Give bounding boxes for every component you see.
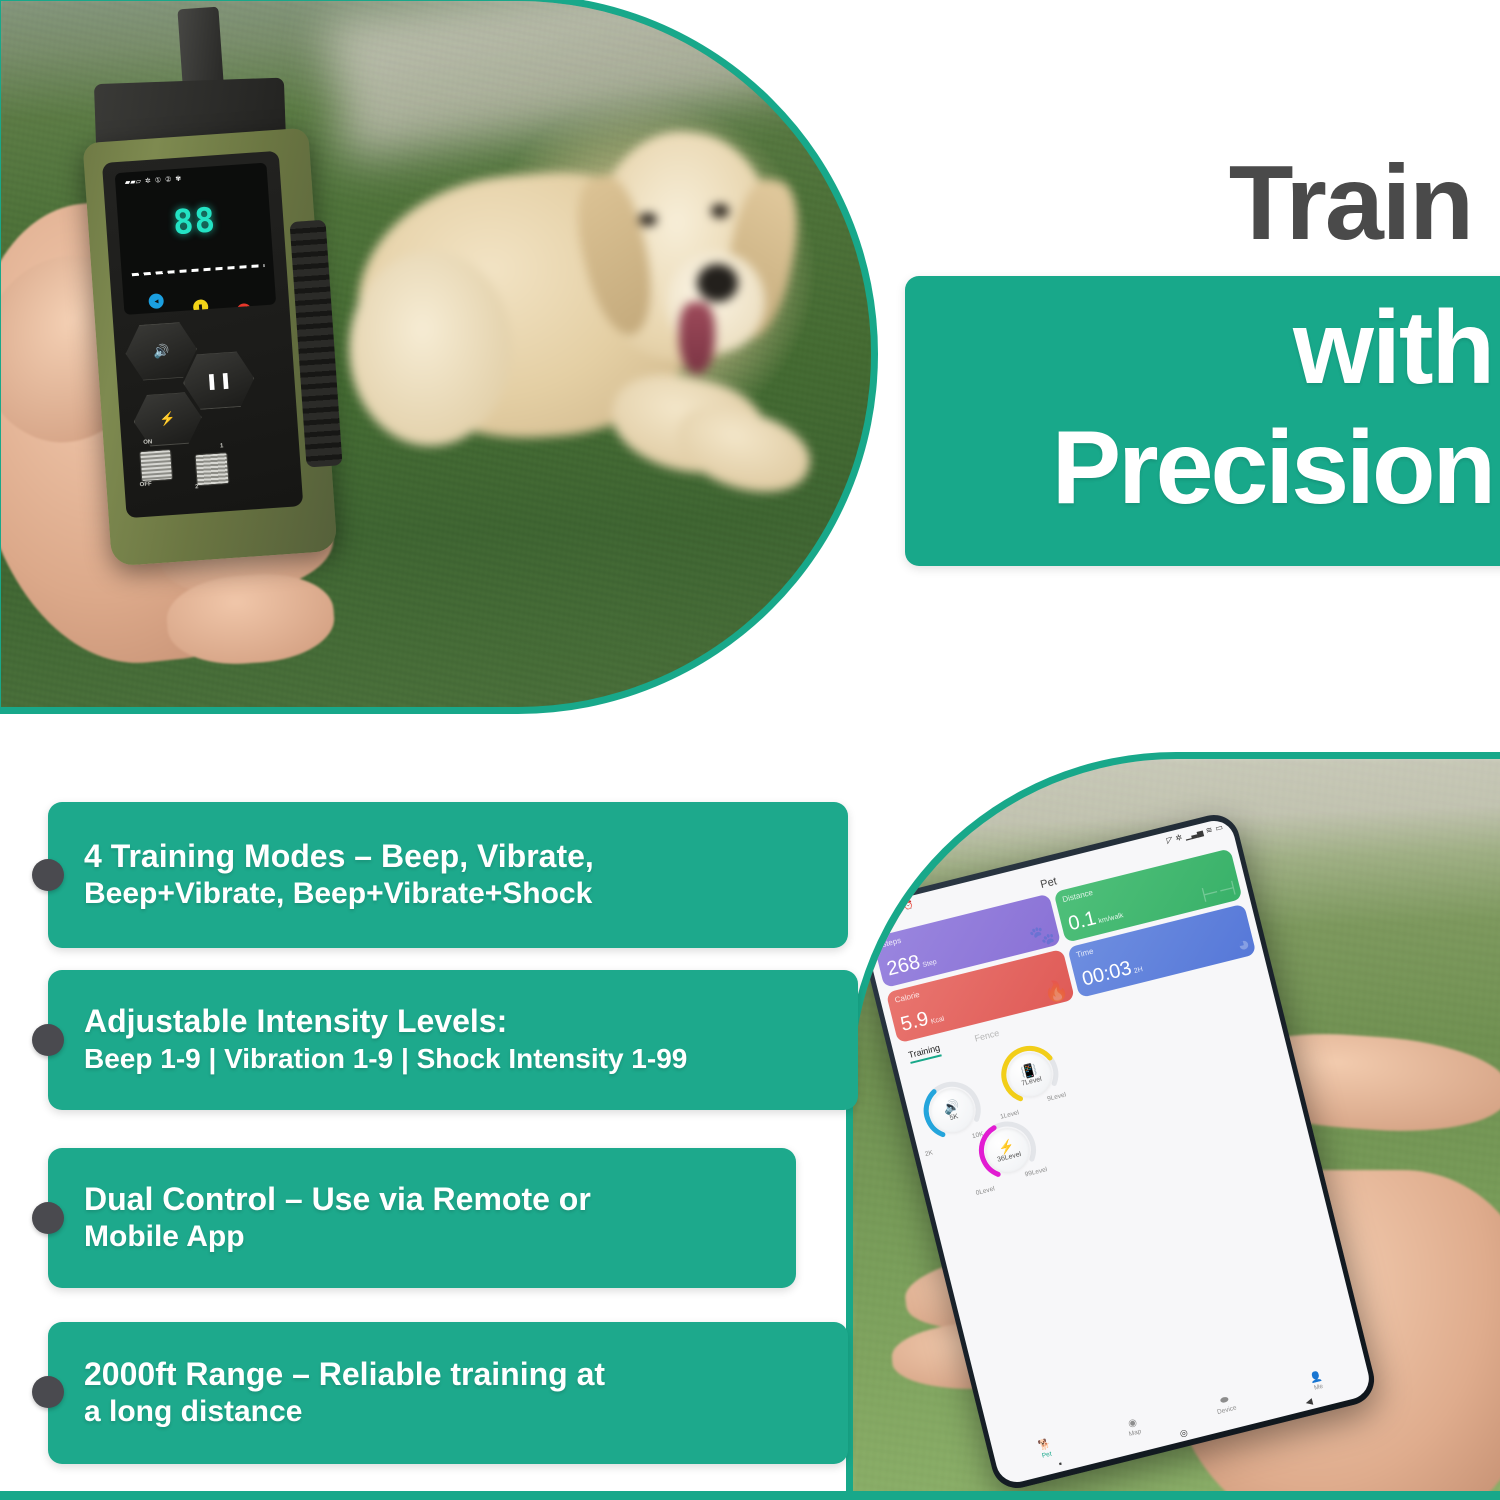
feature-box-training-modes: 4 Training Modes – Beep, Vibrate, Beep+V… [48,802,848,948]
distance-value: 0.1 [1066,908,1098,934]
nav-label-me: Me [1313,1382,1323,1391]
headline-word-train: Train [1229,150,1472,256]
power-switch[interactable] [139,449,174,483]
battery-icon: ▰▰▱ [124,179,141,187]
beep-value: 5K [948,1112,958,1121]
bullet-marker-2 [32,1024,64,1056]
feature-1-line-2: Beep+Vibrate, Beep+Vibrate+Shock [84,876,822,913]
time-value: 00:03 [1080,958,1133,990]
lcd-status-icons: ▰▰▱ ✲ ① ② ✾ [124,176,181,187]
feature-2-sub: Beep 1-9 | Vibration 1-9 | Shock Intensi… [84,1041,832,1077]
headline-word-with: with [1293,296,1493,400]
bluetooth-icon: ✲ [144,178,150,185]
speaker-icon: 🔊 [941,1098,960,1115]
feature-4-line-2: a long distance [84,1394,822,1431]
headline-green-box: with Precision [905,276,1500,566]
feature-1-line-1: 4 Training Modes – Beep, Vibrate, [84,837,822,876]
circle-icon[interactable]: ◎ [1178,1427,1188,1440]
feature-box-range: 2000ft Range – Reliable training at a lo… [48,1322,848,1464]
battery-icon: ▭ [1214,822,1224,833]
distance-unit: km/walk [1097,912,1123,925]
time-unit: 2H [1133,966,1143,975]
feature-4-line-1: 2000ft Range – Reliable training at [84,1355,822,1394]
nav-item-pet[interactable]: 🐕 Pet [1037,1439,1053,1459]
remote-lcd-screen: ▰▰▱ ✲ ① ② ✾ 88 ◂ ▮ ⚡ [115,163,276,316]
remote-control-device: ▰▰▱ ✲ ① ② ✾ 88 ◂ ▮ ⚡ [82,128,337,566]
steps-unit: Step [921,959,937,969]
gear-icon: ✾ [175,176,181,183]
feature-box-dual-control: Dual Control – Use via Remote or Mobile … [48,1148,796,1288]
nav-item-map[interactable]: ◉ Map [1125,1417,1142,1438]
bullet-marker-3 [32,1202,64,1234]
flame-icon: 🔥 [1041,979,1070,1004]
feature-2-line-1: Adjustable Intensity Levels: [84,1002,832,1041]
bullet-marker-1 [32,859,64,891]
beep-min: 2K [924,1149,933,1158]
collar-icon: ⬬ [1219,1395,1230,1407]
remote-button-pad: 🔊 ▌▐ ⚡ ON OFF 1 2 [120,308,295,504]
nav-item-device[interactable]: ⬬ Device [1213,1393,1237,1415]
map-pin-icon: ◉ [1127,1418,1138,1430]
bottom-accent-rule [0,1491,1500,1500]
location-icon: ◸ [1165,835,1173,845]
channel-switch[interactable] [194,453,229,487]
lcd-level-bar [131,264,264,276]
remote-face: ▰▰▱ ✲ ① ② ✾ 88 ◂ ▮ ⚡ [102,151,303,518]
square-icon[interactable]: ▪ [1057,1458,1063,1468]
paw-print-icon: 🐾 [1027,923,1056,948]
channel-2-label: 2 [195,484,199,490]
bullet-marker-4 [32,1376,64,1408]
alarm-icon: ⏰ [902,900,914,911]
remote-photo-panel: ▰▰▱ ✲ ① ② ✾ 88 ◂ ▮ ⚡ [0,0,878,714]
channel-2-icon: ② [165,176,172,183]
beep-key[interactable]: 🔊 [123,321,198,381]
beep-mode-indicator: ◂ [148,293,164,309]
back-triangle-icon[interactable]: ◀ [1304,1396,1313,1408]
feature-3-line-2: Mobile App [84,1219,770,1256]
channel-1-icon: ① [154,177,161,184]
golden-retriever-dog [349,107,801,531]
lcd-mode-indicators: ◂ ▮ ⚡ [123,285,275,311]
feature-box-intensity-levels: Adjustable Intensity Levels: Beep 1-9 | … [48,970,858,1110]
clock-icon: ◕ [1235,933,1252,955]
bluetooth-icon: ✲ [1174,832,1183,842]
mute-icon: 🔇 [889,903,901,914]
app-photo-panel: 22:13 🔇 ⏰ ◸ ✲ ▁▃▅ ≋ ▭ Pet [846,752,1500,1500]
nav-label-pet: Pet [1041,1450,1052,1459]
wifi-icon: ≋ [1204,825,1213,835]
app-photo: 22:13 🔇 ⏰ ◸ ✲ ▁▃▅ ≋ ▭ Pet [853,759,1500,1499]
steps-value: 268 [884,952,921,979]
power-off-label: OFF [139,482,151,489]
nav-item-me[interactable]: 👤 Me [1309,1371,1325,1391]
vibrate-key[interactable]: ▌▐ [181,351,256,411]
shock-min: 0Level [975,1185,995,1196]
product-infographic: ▰▰▱ ✲ ① ② ✾ 88 ◂ ▮ ⚡ [0,0,1500,1500]
calorie-unit: Kcal [930,1015,945,1025]
headline-word-precision: Precision [1052,416,1493,520]
lcd-level-digits: 88 [117,197,271,247]
calorie-value: 5.9 [898,1008,930,1034]
remote-photo: ▰▰▱ ✲ ① ② ✾ 88 ◂ ▮ ⚡ [1,1,871,707]
channel-1-label: 1 [219,444,223,450]
power-on-label: ON [143,439,152,446]
vibrate-dial[interactable]: 📳 7Level 1Level 9Level [992,1037,1067,1112]
feature-3-line-1: Dual Control – Use via Remote or [84,1180,770,1219]
